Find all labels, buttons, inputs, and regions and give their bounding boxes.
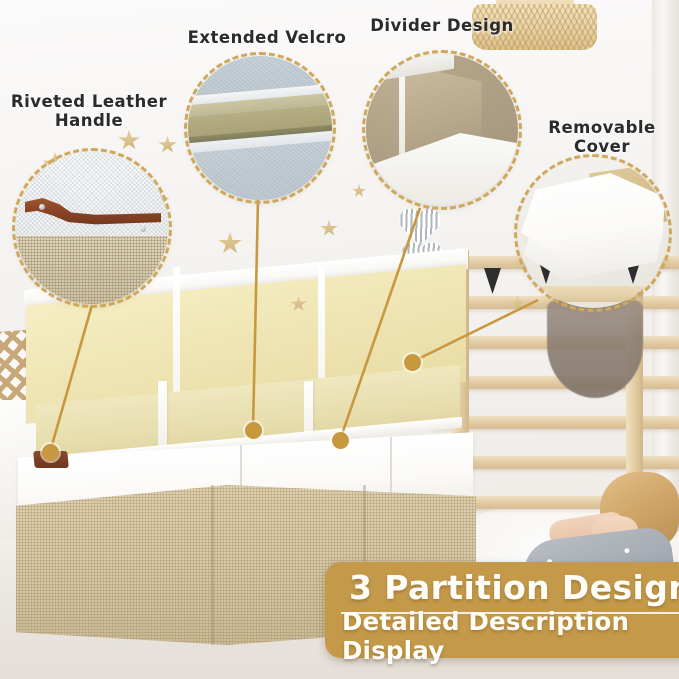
callout-title-extended-velcro: Extended Velcro xyxy=(182,28,352,47)
callout-title-removable-cover: Removable Cover xyxy=(520,118,679,157)
compartment-divider xyxy=(158,381,167,450)
callout-riveted-leather-handle[interactable] xyxy=(12,148,172,308)
product-infographic: Riveted Leather Handle Extended Velcro D… xyxy=(0,0,679,679)
callout-extended-velcro[interactable] xyxy=(184,52,336,204)
callout-2-dashed-ring xyxy=(184,52,336,204)
callout-3-dashed-ring xyxy=(362,50,522,210)
leader-dot-handle xyxy=(42,444,59,461)
bottom-banner: 3 Partition Design Detailed Description … xyxy=(325,562,679,658)
callout-title-divider-design: Divider Design xyxy=(366,16,518,35)
callout-title-riveted-leather-handle: Riveted Leather Handle xyxy=(2,92,176,131)
callout-1-dashed-ring xyxy=(12,148,172,308)
callout-4-dashed-ring xyxy=(514,154,672,312)
leader-dot-velcro xyxy=(245,422,262,439)
banner-subheadline: Detailed Description Display xyxy=(325,614,679,658)
callout-divider-design[interactable] xyxy=(362,50,522,210)
banner-headline: 3 Partition Design xyxy=(325,562,679,612)
leader-dot-divider xyxy=(332,432,349,449)
callout-removable-cover[interactable] xyxy=(514,154,672,312)
leader-dot-cover xyxy=(404,354,421,371)
